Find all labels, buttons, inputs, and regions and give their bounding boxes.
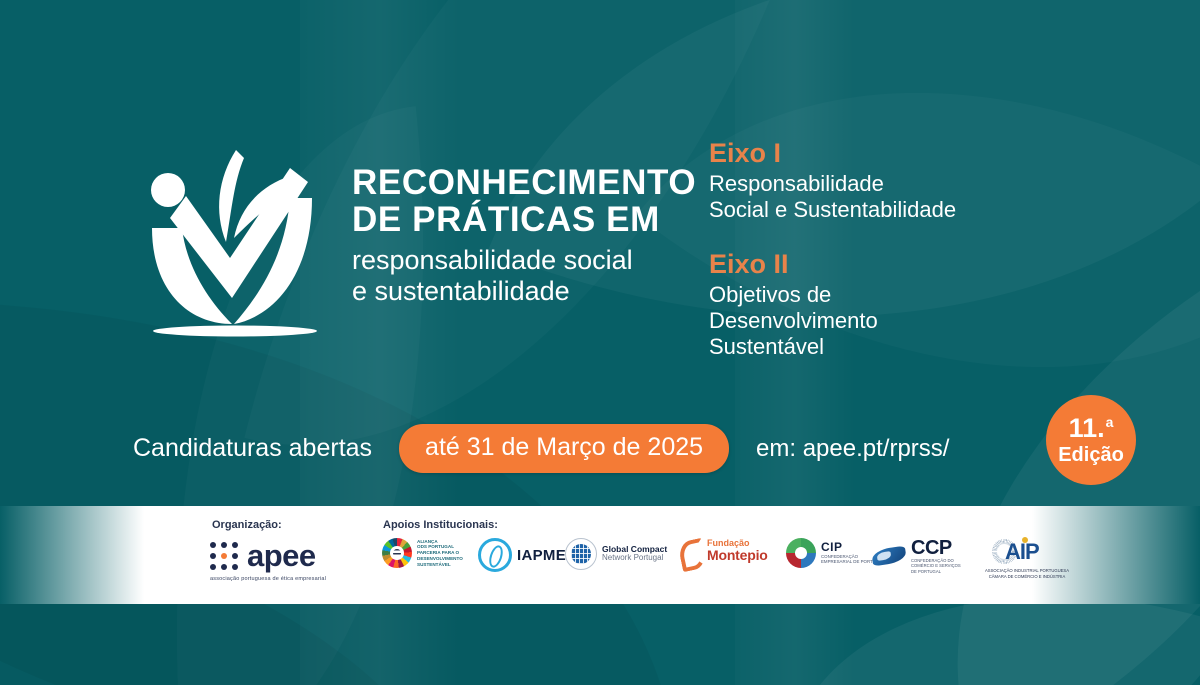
edition-ordinal: a (1106, 415, 1114, 429)
global-compact-globe-icon (565, 538, 597, 570)
supporter-logo-ods-portugal[interactable]: ALIANÇA ODS PORTUGAL PARCERIA PARA O DES… (382, 538, 463, 568)
call-to-action-row: Candidaturas abertas até 31 de Março de … (133, 424, 949, 473)
brand-wordmark: RECONHECIMENTO DE PRÁTICAS EM responsabi… (352, 138, 696, 307)
global-compact-sub: Network Portugal (602, 554, 667, 562)
supporter-logo-global-compact[interactable]: Global Compact Network Portugal (565, 538, 667, 570)
cip-pinwheel-icon (786, 538, 816, 568)
aip-sub: ASSOCIAÇÃO INDUSTRIAL PORTUGUESA CÂMARA … (985, 568, 1069, 579)
edition-word: Edição (1058, 445, 1124, 465)
eixo-2-title: Eixo II (709, 249, 956, 280)
eixo-1-title: Eixo I (709, 138, 956, 169)
brand-logo-block: RECONHECIMENTO DE PRÁTICAS EM responsabi… (140, 138, 696, 338)
aip-gear-icon: AIP (992, 538, 1062, 566)
montepio-sub: Montepio (707, 548, 768, 563)
eixo-1-description: Responsabilidade Social e Sustentabilida… (709, 171, 956, 223)
apee-wordmark: apee (247, 540, 316, 571)
ods-portugal-name: ALIANÇA ODS PORTUGAL PARCERIA PARA O DES… (417, 539, 463, 568)
rprss-plant-checkmark-icon (140, 138, 330, 338)
brand-title-line1: RECONHECIMENTO (352, 164, 696, 201)
application-url[interactable]: em: apee.pt/rprss/ (756, 435, 949, 463)
ccp-swoosh-icon (872, 545, 906, 567)
apee-tagline: associação portuguesa de ética empresari… (210, 576, 326, 582)
eixo-2-description: Objetivos de Desenvolvimento Sustentável (709, 282, 956, 360)
aip-name: AIP (1005, 539, 1039, 564)
supporters-label: Apoios Institucionais: (383, 519, 498, 531)
eixo-item-2: Eixo II Objetivos de Desenvolvimento Sus… (709, 249, 956, 360)
iapmei-ring-icon (478, 538, 512, 572)
supporter-logo-ccp[interactable]: CCP CONFEDERAÇÃO DO COMÉRCIO E SERVIÇOS … (872, 538, 961, 574)
montepio-ribbon-icon (676, 538, 702, 564)
edition-badge: 11.a Edição (1046, 395, 1136, 485)
apee-dot-grid-icon (210, 542, 238, 570)
brand-title-line2: DE PRÁTICAS EM (352, 201, 696, 238)
supporter-logo-cip[interactable]: CIP CONFEDERAÇÃO EMPRESARIAL DE PORTUGAL (786, 538, 885, 568)
ccp-name: CCP (911, 538, 961, 558)
sdg-wheel-icon (382, 538, 412, 568)
iapmei-name: IAPMEI (517, 547, 570, 564)
supporter-logo-iapmei[interactable]: IAPMEI (478, 538, 570, 572)
sponsor-bar: Organização: Apoios Institucionais: apee… (0, 506, 1200, 604)
promo-banner: RECONHECIMENTO DE PRÁTICAS EM responsabi… (0, 0, 1200, 685)
brand-subtitle-line2: e sustentabilidade (352, 276, 696, 307)
edition-number-value: 11. (1069, 415, 1105, 442)
supporter-logo-fundacao-montepio[interactable]: Fundação Montepio (676, 538, 768, 564)
organizer-logo-apee[interactable]: apee associação portuguesa de ética empr… (210, 540, 326, 582)
ccp-sub: CONFEDERAÇÃO DO COMÉRCIO E SERVIÇOS DE P… (911, 558, 961, 574)
organizer-label: Organização: (212, 519, 282, 531)
applications-open-label: Candidaturas abertas (133, 434, 372, 463)
eixo-item-1: Eixo I Responsabilidade Social e Sustent… (709, 138, 956, 223)
supporter-logo-aip[interactable]: AIP ASSOCIAÇÃO INDUSTRIAL PORTUGUESA CÂM… (985, 538, 1069, 579)
edition-number: 11.a (1069, 415, 1114, 442)
deadline-pill: até 31 de Março de 2025 (399, 424, 729, 473)
eixos-list: Eixo I Responsabilidade Social e Sustent… (709, 138, 956, 386)
brand-subtitle-line1: responsabilidade social (352, 238, 696, 276)
